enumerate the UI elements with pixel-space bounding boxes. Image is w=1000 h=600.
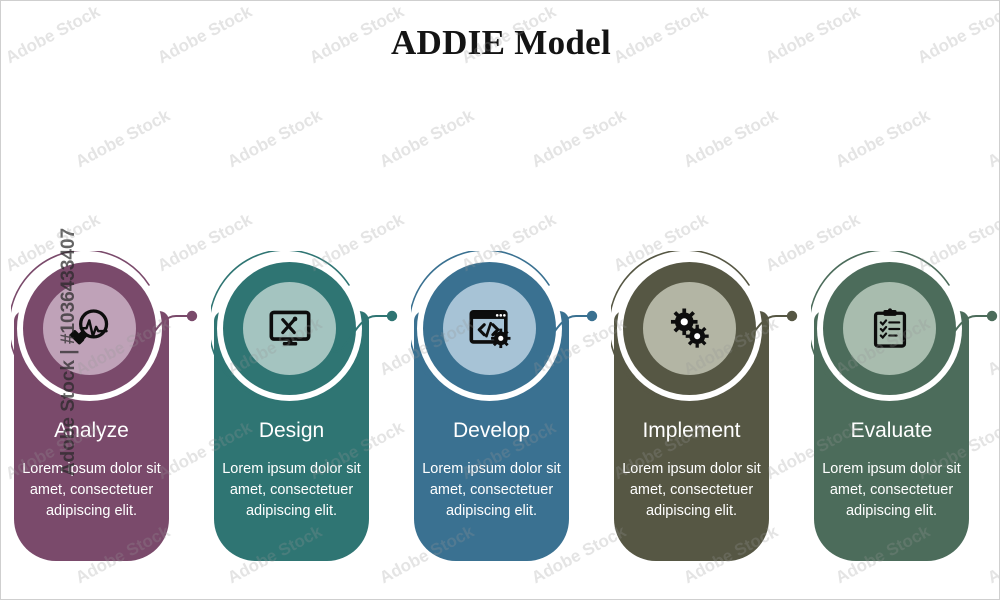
step-label: Analyze — [14, 419, 169, 443]
page-title: ADDIE Model — [1, 23, 1000, 63]
step-label: Evaluate — [814, 419, 969, 443]
infographic-canvas: ADDIE Model Analyze Lorem ipsum dolor si… — [0, 0, 1000, 600]
step-icon-disc — [643, 282, 736, 375]
step-card-develop[interactable]: Develop Lorem ipsum dolor sit amet, cons… — [414, 256, 569, 561]
step-description: Lorem ipsum dolor sit amet, consectetuer… — [208, 459, 375, 522]
step-connector — [332, 296, 404, 356]
step-icon-disc — [243, 282, 336, 375]
watermark-tile: Adobe Stock — [72, 106, 173, 172]
step-icon-disc — [443, 282, 536, 375]
step-description: Lorem ipsum dolor sit amet, consectetuer… — [408, 459, 575, 522]
watermark-tile: Adobe Stock — [984, 522, 1000, 588]
watermark-tile: Adobe Stock — [376, 106, 477, 172]
step-icon-disc — [843, 282, 936, 375]
step-label: Design — [214, 419, 369, 443]
step-description: Lorem ipsum dolor sit amet, consectetuer… — [608, 459, 775, 522]
watermark-tile: Adobe Stock — [832, 106, 933, 172]
step-card-analyze[interactable]: Analyze Lorem ipsum dolor sit amet, cons… — [14, 256, 169, 561]
watermark-tile: Adobe Stock — [984, 106, 1000, 172]
step-connector — [132, 296, 204, 356]
step-label: Implement — [614, 419, 769, 443]
clipboard-checklist-icon — [869, 305, 911, 353]
step-connector — [732, 296, 804, 356]
step-icon-disc — [43, 282, 136, 375]
step-label: Develop — [414, 419, 569, 443]
watermark-tile: Adobe Stock — [680, 106, 781, 172]
step-card-evaluate[interactable]: Evaluate Lorem ipsum dolor sit amet, con… — [814, 256, 969, 561]
gears-icon — [665, 306, 715, 352]
watermark-tile: Adobe Stock — [224, 106, 325, 172]
watermark-tile: Adobe Stock — [528, 106, 629, 172]
step-connector — [532, 296, 604, 356]
magnifier-pulse-icon — [67, 306, 113, 352]
step-card-design[interactable]: Design Lorem ipsum dolor sit amet, conse… — [214, 256, 369, 561]
monitor-design-tools-icon — [266, 306, 314, 352]
step-description: Lorem ipsum dolor sit amet, consectetuer… — [808, 459, 975, 522]
code-window-gear-icon — [466, 306, 514, 352]
step-card-implement[interactable]: Implement Lorem ipsum dolor sit amet, co… — [614, 256, 769, 561]
step-description: Lorem ipsum dolor sit amet, consectetuer… — [8, 459, 175, 522]
step-connector — [932, 296, 1000, 356]
